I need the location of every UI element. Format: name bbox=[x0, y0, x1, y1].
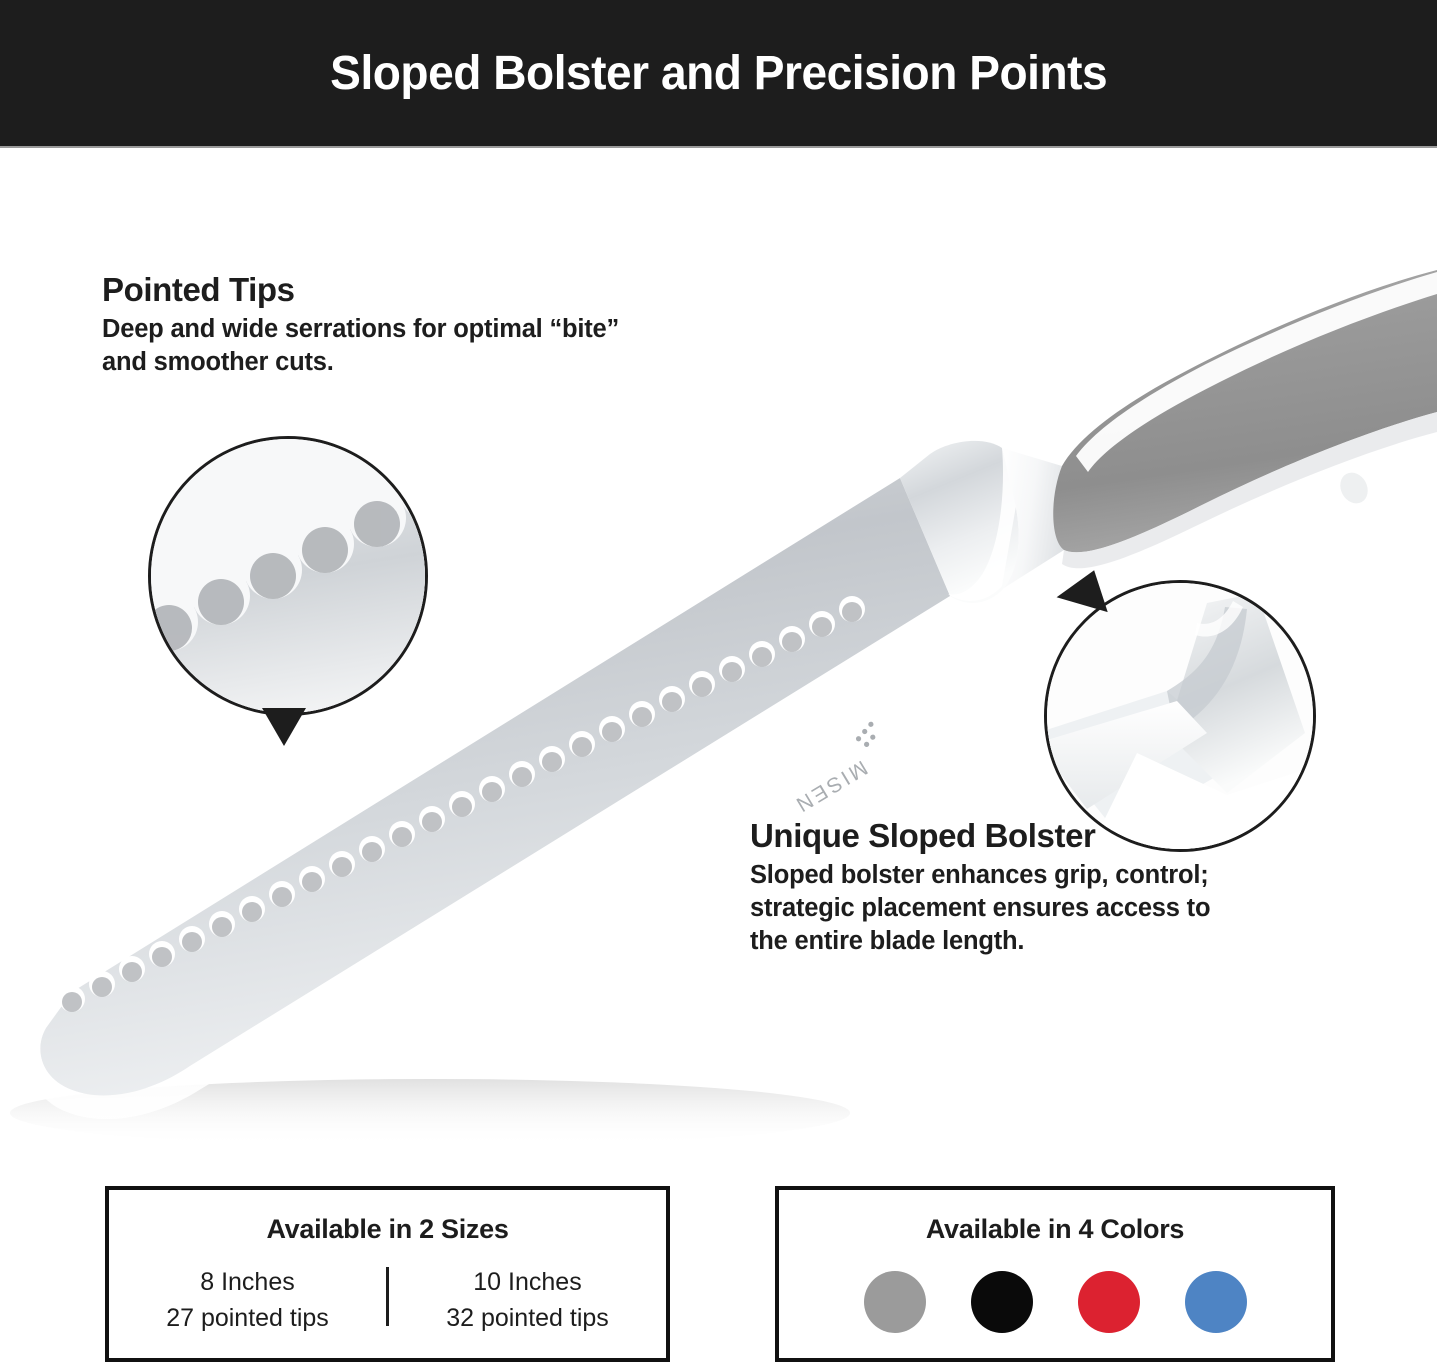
page-title: Sloped Bolster and Precision Points bbox=[330, 46, 1107, 101]
magnifier-bolster bbox=[1044, 580, 1316, 852]
sizes-box-title: Available in 2 Sizes bbox=[266, 1214, 508, 1245]
callout-pointed-tips: Pointed Tips Deep and wide serrations fo… bbox=[102, 272, 622, 379]
callout-body: Sloped bolster enhances grip, control; s… bbox=[750, 859, 1220, 958]
size-label: 8 Inches bbox=[109, 1265, 386, 1301]
color-swatch-black[interactable] bbox=[971, 1271, 1033, 1333]
size-option-10in: 10 Inches 32 pointed tips bbox=[389, 1265, 666, 1336]
handle-rivet bbox=[1335, 468, 1373, 508]
color-swatch-gray[interactable] bbox=[864, 1271, 926, 1333]
available-colors-box: Available in 4 Colors bbox=[775, 1186, 1335, 1362]
header-bar: Sloped Bolster and Precision Points bbox=[0, 0, 1437, 148]
callout-body: Deep and wide serrations for optimal “bi… bbox=[102, 313, 622, 379]
svg-text:MISEN: MISEN bbox=[790, 756, 872, 818]
size-option-8in: 8 Inches 27 pointed tips bbox=[109, 1265, 386, 1336]
callout-sloped-bolster: Unique Sloped Bolster Sloped bolster enh… bbox=[750, 818, 1220, 958]
color-swatch-red[interactable] bbox=[1078, 1271, 1140, 1333]
callout-heading: Unique Sloped Bolster bbox=[750, 818, 1220, 855]
size-label: 10 Inches bbox=[389, 1265, 666, 1301]
sizes-row: 8 Inches 27 pointed tips 10 Inches 32 po… bbox=[109, 1265, 666, 1336]
size-tips: 32 pointed tips bbox=[389, 1301, 666, 1337]
misen-brandmark: MISEN bbox=[777, 721, 895, 818]
available-sizes-box: Available in 2 Sizes 8 Inches 27 pointed… bbox=[105, 1186, 670, 1362]
color-swatch-row bbox=[864, 1271, 1247, 1333]
color-swatch-blue[interactable] bbox=[1185, 1271, 1247, 1333]
magnifier-pointer-down-icon bbox=[262, 708, 306, 746]
size-tips: 27 pointed tips bbox=[109, 1301, 386, 1337]
colors-box-title: Available in 4 Colors bbox=[926, 1214, 1184, 1245]
magnifier-serrations bbox=[148, 436, 428, 716]
callout-heading: Pointed Tips bbox=[102, 272, 622, 309]
